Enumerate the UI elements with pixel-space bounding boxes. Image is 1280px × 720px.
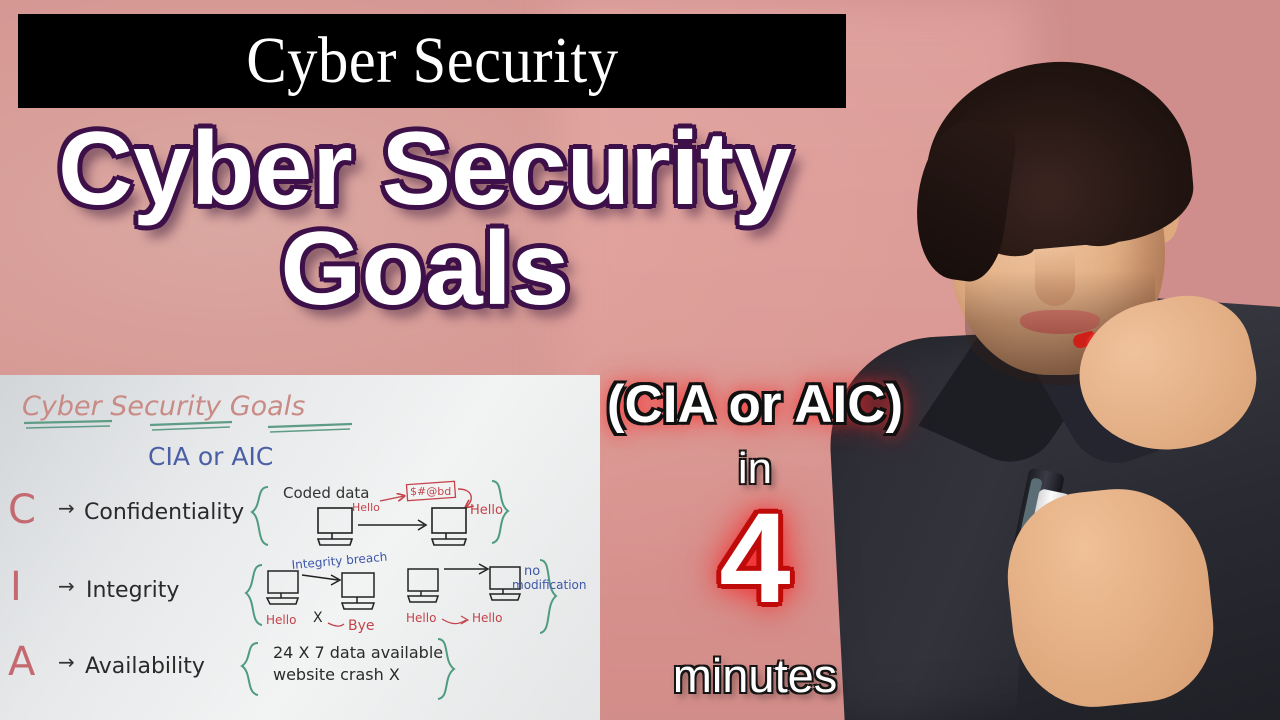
row-term-integrity: Integrity — [86, 578, 179, 603]
channel-banner: Cyber Security — [18, 14, 846, 108]
note-data-available: 24 X 7 data available — [273, 643, 443, 662]
row-letter-a: A — [8, 639, 36, 685]
whiteboard-subtitle: CIA or AIC — [148, 442, 273, 471]
note-integrity-breach: Integrity breach — [291, 550, 388, 572]
note-hello-i2: Hello — [406, 611, 436, 625]
note-hello-i1: Hello — [266, 613, 296, 627]
note-hello-c2: Hello — [470, 503, 503, 518]
headline-line-2: Goals — [20, 220, 830, 320]
acronym-overlay: (CIA or AIC) — [560, 378, 950, 431]
note-x-mark: X — [313, 610, 323, 626]
video-thumbnail: Cyber Security Cyber Security Goals (CIA… — [0, 0, 1280, 720]
note-website-crash: website crash X — [273, 665, 400, 684]
note-hello-i3: Hello — [472, 611, 502, 625]
row-letter-i: I — [10, 564, 22, 610]
row-arrow-i: → — [58, 574, 75, 598]
note-ciphertext: $#@bd — [410, 485, 451, 498]
note-modification: modification — [512, 578, 586, 592]
whiteboard: Cyber Security Goals CIA or AIC C → Conf… — [0, 375, 600, 720]
row-letter-c: C — [8, 487, 36, 533]
whiteboard-title: Cyber Security Goals — [22, 391, 305, 422]
row-term-confidentiality: Confidentiality — [84, 500, 244, 525]
row-arrow-c: → — [58, 496, 75, 520]
headline-line-1: Cyber Security — [58, 111, 792, 227]
row-term-availability: Availability — [85, 654, 205, 679]
note-hello-c1: Hello — [352, 501, 380, 514]
note-bye: Bye — [348, 618, 375, 634]
note-no: no — [524, 564, 540, 579]
page-title: Cyber Security Goals — [20, 120, 830, 320]
row-arrow-a: → — [58, 650, 75, 674]
whiteboard-drawing: Cyber Security Goals CIA or AIC C → Conf… — [0, 375, 600, 720]
duration-unit-overlay: minutes — [600, 648, 910, 703]
note-coded-data: Coded data — [283, 484, 369, 502]
channel-banner-label: Cyber Security — [246, 28, 618, 94]
duration-number-overlay: 4 — [600, 495, 910, 623]
presenter-nose — [1035, 250, 1075, 306]
